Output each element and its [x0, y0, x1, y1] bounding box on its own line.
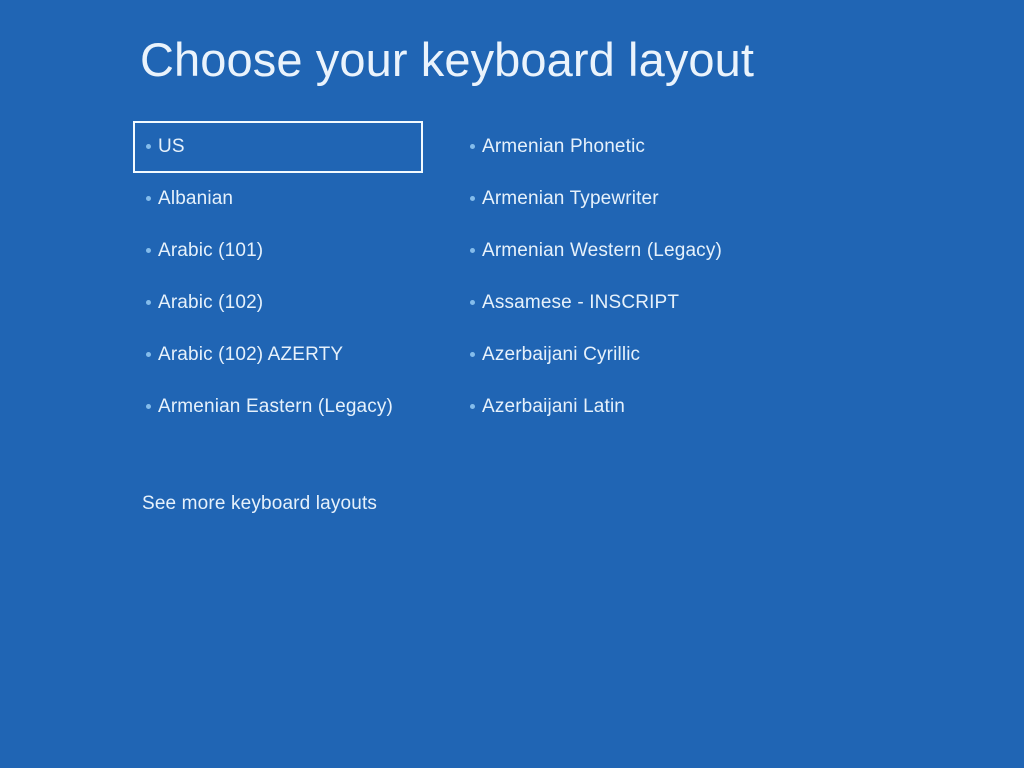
bullet-icon: [470, 300, 475, 305]
layout-option-label: US: [158, 136, 185, 158]
layout-option-label: Arabic (101): [158, 240, 263, 262]
layout-option-label: Armenian Phonetic: [482, 136, 645, 158]
bullet-icon: [470, 248, 475, 253]
bullet-icon: [146, 300, 151, 305]
bullet-icon: [146, 404, 151, 409]
layout-option-label: Arabic (102): [158, 292, 263, 314]
bullet-icon: [146, 248, 151, 253]
bullet-icon: [146, 196, 151, 201]
layout-option-azerbaijani-cyrillic[interactable]: Azerbaijani Cyrillic: [457, 329, 757, 381]
see-more-keyboard-layouts-link[interactable]: See more keyboard layouts: [142, 493, 377, 515]
layout-option-us[interactable]: US: [133, 121, 423, 173]
layout-option-label: Arabic (102) AZERTY: [158, 344, 343, 366]
layout-option-armenian-western-legacy[interactable]: Armenian Western (Legacy): [457, 225, 757, 277]
layout-option-armenian-phonetic[interactable]: Armenian Phonetic: [457, 121, 757, 173]
layout-option-armenian-eastern-legacy[interactable]: Armenian Eastern (Legacy): [133, 381, 423, 433]
layout-option-arabic-101[interactable]: Arabic (101): [133, 225, 423, 277]
bullet-icon: [470, 196, 475, 201]
keyboard-layout-column-2: Armenian Phonetic Armenian Typewriter Ar…: [457, 121, 777, 433]
layout-option-label: Albanian: [158, 188, 233, 210]
layout-option-label: Azerbaijani Latin: [482, 396, 625, 418]
layout-option-azerbaijani-latin[interactable]: Azerbaijani Latin: [457, 381, 757, 433]
bullet-icon: [146, 144, 151, 149]
keyboard-layout-column-1: US Albanian Arabic (101) Arabic (102) Ar…: [133, 121, 433, 433]
layout-option-armenian-typewriter[interactable]: Armenian Typewriter: [457, 173, 757, 225]
layout-option-assamese-inscript[interactable]: Assamese - INSCRIPT: [457, 277, 757, 329]
page-title: Choose your keyboard layout: [140, 36, 754, 83]
bullet-icon: [470, 404, 475, 409]
layout-option-arabic-102-azerty[interactable]: Arabic (102) AZERTY: [133, 329, 423, 381]
layout-option-label: Armenian Typewriter: [482, 188, 659, 210]
layout-option-label: Armenian Western (Legacy): [482, 240, 722, 262]
keyboard-layout-screen: Choose your keyboard layout US Albanian …: [0, 0, 1024, 768]
layout-option-albanian[interactable]: Albanian: [133, 173, 423, 225]
bullet-icon: [470, 352, 475, 357]
bullet-icon: [146, 352, 151, 357]
bullet-icon: [470, 144, 475, 149]
layout-option-label: Azerbaijani Cyrillic: [482, 344, 640, 366]
layout-option-label: Assamese - INSCRIPT: [482, 292, 679, 314]
layout-option-label: Armenian Eastern (Legacy): [158, 396, 393, 418]
layout-option-arabic-102[interactable]: Arabic (102): [133, 277, 423, 329]
